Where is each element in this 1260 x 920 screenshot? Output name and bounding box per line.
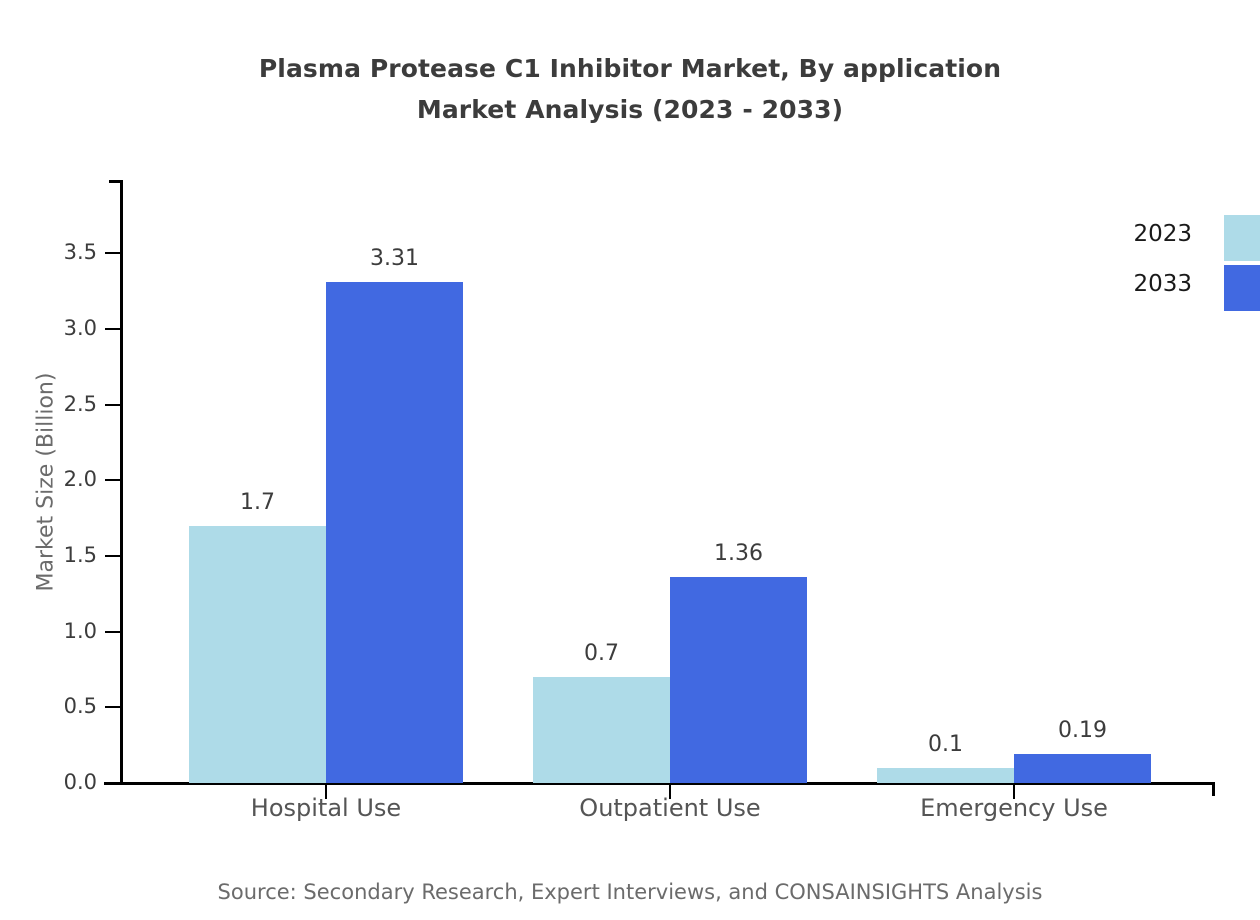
y-axis-tick: [105, 328, 122, 330]
legend-item-2033[interactable]: 2033: [1060, 265, 1260, 311]
bar-2023-hospital-use[interactable]: [189, 526, 326, 783]
y-axis-tick: [105, 252, 122, 254]
y-axis-tick-label: 3.5: [64, 242, 97, 263]
bar-2033-emergency-use[interactable]: [1014, 754, 1151, 783]
bar-2033-hospital-use[interactable]: [326, 282, 463, 783]
chart-title-line-1: Plasma Protease C1 Inhibitor Market, By …: [259, 54, 1001, 83]
x-axis-category-label: Outpatient Use: [510, 793, 830, 823]
y-axis-tick: [105, 404, 122, 406]
y-axis-tick: [105, 479, 122, 481]
legend-label: 2023: [1133, 221, 1192, 247]
chart-title-line-2: Market Analysis (2023 - 2033): [0, 89, 1260, 130]
y-axis-tick-label: 0.0: [64, 772, 97, 793]
bar-value-label: 0.19: [974, 720, 1191, 742]
legend-item-2023[interactable]: 2023: [1060, 215, 1260, 261]
bar-value-label: 1.36: [630, 543, 847, 565]
y-axis-tick-label: 2.0: [64, 469, 97, 490]
x-axis-category-label: Hospital Use: [166, 793, 486, 823]
y-axis-title: Market Size (Billion): [34, 372, 59, 591]
y-axis-spine: [120, 180, 123, 785]
y-axis-tick-label: 1.5: [64, 545, 97, 566]
y-axis-tick-label: 0.5: [64, 696, 97, 717]
y-axis-tick-label: 2.5: [64, 394, 97, 415]
bar-chart: Plasma Protease C1 Inhibitor Market, By …: [0, 0, 1260, 920]
y-axis-tick: [105, 631, 122, 633]
source-note: Source: Secondary Research, Expert Inter…: [0, 878, 1260, 906]
y-axis-tick: [105, 555, 122, 557]
y-axis-tick: [105, 706, 122, 708]
legend-label: 2033: [1133, 271, 1192, 297]
legend-color-swatch: [1224, 215, 1260, 261]
y-axis-tick: [105, 782, 122, 784]
bar-2033-outpatient-use[interactable]: [670, 577, 807, 783]
chart-title: Plasma Protease C1 Inhibitor Market, By …: [0, 48, 1260, 130]
x-axis-end-cap: [1212, 782, 1215, 796]
bar-value-label: 3.31: [286, 248, 503, 270]
bar-2023-outpatient-use[interactable]: [533, 677, 670, 783]
bar-2023-emergency-use[interactable]: [877, 768, 1014, 783]
y-axis-top-cap: [109, 180, 123, 183]
legend-color-swatch: [1224, 265, 1260, 311]
y-axis-tick-label: 3.0: [64, 318, 97, 339]
y-axis-tick-label: 1.0: [64, 621, 97, 642]
x-axis-category-label: Emergency Use: [854, 793, 1174, 823]
